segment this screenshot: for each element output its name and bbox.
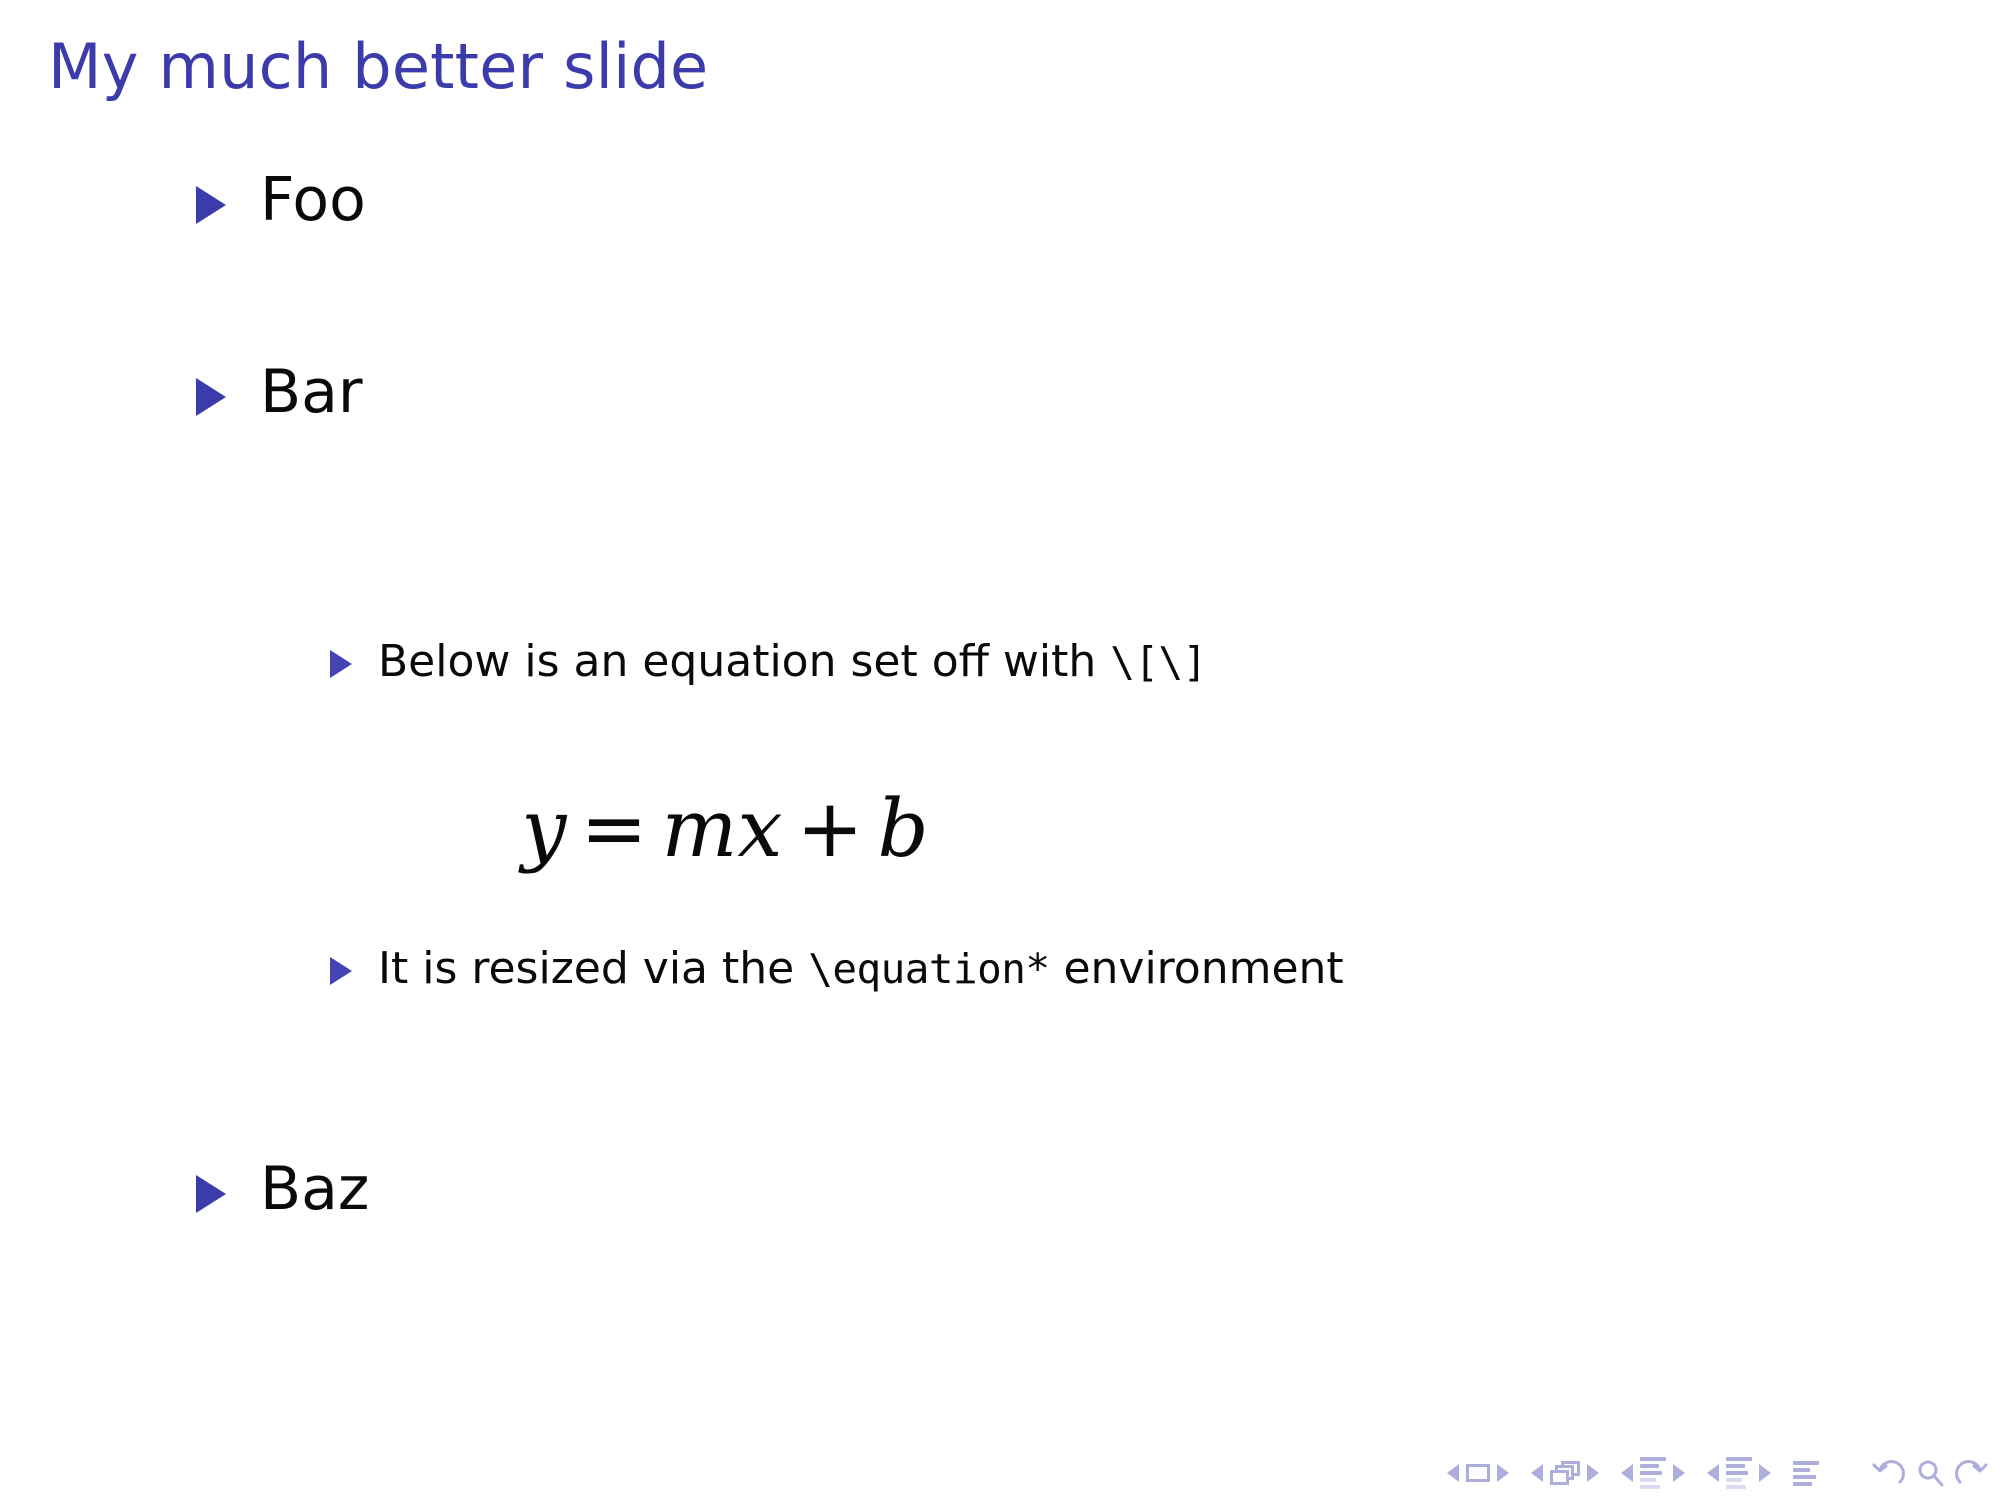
list-item: Foo <box>196 170 2015 230</box>
bullet-triangle-icon <box>196 1175 226 1213</box>
spacer <box>0 991 2015 1159</box>
beamer-slide: My much better slide Foo Bar Below is an… <box>0 0 2015 1511</box>
slide-body: Foo Bar Below is an equation set off wit… <box>0 170 2015 1219</box>
equation-operator: + <box>782 782 877 875</box>
sub-item-text: Below is an equation set off with <box>378 636 1110 687</box>
list-item: Bar <box>196 362 2015 422</box>
bullet-triangle-icon <box>196 378 226 416</box>
sub-item-code: \[\] <box>1110 638 1207 686</box>
bullet-triangle-icon <box>196 186 226 224</box>
previous-section-icon[interactable] <box>1707 1464 1719 1482</box>
search-icon[interactable] <box>1915 1458 1945 1488</box>
spacer <box>0 230 2015 362</box>
history-navigation-group[interactable] <box>1871 1458 1989 1488</box>
spacer <box>0 684 2015 782</box>
list-item-label: It is resized via the \equation* environ… <box>378 947 1344 991</box>
forward-arrow-icon[interactable] <box>1955 1458 1989 1488</box>
list-item-label: Foo <box>260 170 366 230</box>
subsection-icon[interactable] <box>1640 1457 1666 1489</box>
previous-frame-icon[interactable] <box>1531 1464 1543 1482</box>
equation-term-2: b <box>878 782 929 875</box>
display-equation: y=mx+b <box>0 782 1450 875</box>
spacer <box>0 875 2015 947</box>
sub-item-text-suffix: environment <box>1049 943 1343 994</box>
previous-slide-icon[interactable] <box>1447 1464 1459 1482</box>
section-icon[interactable] <box>1726 1457 1752 1489</box>
list-item-label: Baz <box>260 1159 369 1219</box>
document-icon[interactable] <box>1793 1461 1819 1486</box>
next-section-icon[interactable] <box>1759 1464 1771 1482</box>
list-item: Baz <box>196 1159 2015 1219</box>
subsection-navigation-group[interactable] <box>1621 1457 1685 1489</box>
next-subsection-icon[interactable] <box>1673 1464 1685 1482</box>
list-item-label: Bar <box>260 362 363 422</box>
slide-navigation-group[interactable] <box>1447 1464 1509 1482</box>
beamer-navigation-bar[interactable] <box>1447 1457 1989 1489</box>
next-slide-icon[interactable] <box>1497 1464 1509 1482</box>
back-arrow-icon[interactable] <box>1871 1458 1905 1488</box>
next-frame-icon[interactable] <box>1587 1464 1599 1482</box>
list-item: It is resized via the \equation* environ… <box>330 947 2015 991</box>
sub-item-text-prefix: It is resized via the <box>378 943 808 994</box>
page-title: My much better slide <box>48 34 708 99</box>
section-navigation-group[interactable] <box>1707 1457 1771 1489</box>
equation-lhs: y <box>521 782 566 875</box>
equation-relation: = <box>566 782 661 875</box>
frame-navigation-group[interactable] <box>1531 1461 1599 1485</box>
list-item: Below is an equation set off with \[\] <box>330 640 2015 684</box>
list-item-label: Below is an equation set off with \[\] <box>378 640 1207 684</box>
equation-term-1: mx <box>662 782 783 875</box>
bullet-triangle-icon <box>330 650 352 678</box>
bullet-triangle-icon <box>330 957 352 985</box>
sub-item-code: \equation* <box>808 945 1049 993</box>
previous-subsection-icon[interactable] <box>1621 1464 1633 1482</box>
slide-icon[interactable] <box>1466 1464 1490 1482</box>
spacer <box>0 422 2015 640</box>
frames-icon[interactable] <box>1550 1461 1580 1485</box>
